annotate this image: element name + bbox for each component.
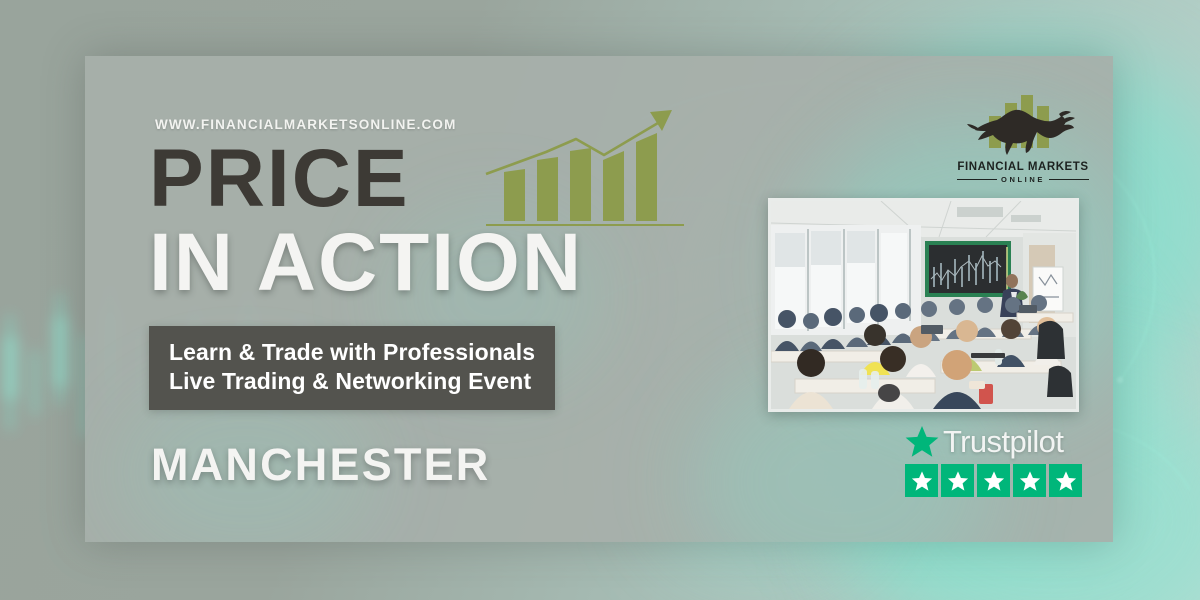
logo-subtitle-row: ONLINE (957, 175, 1089, 184)
trustpilot-star-box (1049, 464, 1082, 497)
trustpilot-rating[interactable]: Trustpilot (905, 424, 1089, 497)
star-icon (983, 470, 1005, 492)
trustpilot-star-box (905, 464, 938, 497)
headline-line-2: IN ACTION (149, 224, 583, 303)
star-icon (1019, 470, 1041, 492)
trustpilot-wordmark: Trustpilot (943, 426, 1063, 457)
trustpilot-star-box (941, 464, 974, 497)
headline-line-1: PRICE (149, 140, 410, 219)
subtitle-banner: Learn & Trade with Professionals Live Tr… (149, 326, 555, 410)
poster-card: WWW.FINANCIALMARKETSONLINE.COM PRICE IN … (85, 56, 1113, 542)
city-name: MANCHESTER (151, 439, 491, 491)
star-icon (1055, 470, 1077, 492)
website-url[interactable]: WWW.FINANCIALMARKETSONLINE.COM (155, 117, 456, 132)
logo-rule-left (957, 179, 997, 180)
subtitle-line-2: Live Trading & Networking Event (169, 367, 535, 396)
star-icon (947, 470, 969, 492)
bull-bar-chart-logo-icon (967, 86, 1079, 160)
trustpilot-star-box (1013, 464, 1046, 497)
trustpilot-header: Trustpilot (905, 424, 1089, 458)
event-photo (768, 198, 1079, 412)
trustpilot-star-icon (905, 425, 939, 458)
brand-logo[interactable]: FINANCIAL MARKETS ONLINE (957, 86, 1089, 184)
star-icon (911, 470, 933, 492)
growth-bar-chart-arrow-icon (480, 108, 690, 233)
subtitle-line-1: Learn & Trade with Professionals (169, 338, 535, 367)
trustpilot-star-row (905, 464, 1089, 497)
logo-subtitle: ONLINE (1001, 175, 1045, 184)
seminar-room-illustration (771, 201, 1076, 409)
poster-canvas: WWW.FINANCIALMARKETSONLINE.COM PRICE IN … (0, 0, 1200, 600)
logo-brand-name: FINANCIAL MARKETS (957, 161, 1089, 173)
logo-rule-right (1049, 179, 1089, 180)
trustpilot-star-box (977, 464, 1010, 497)
